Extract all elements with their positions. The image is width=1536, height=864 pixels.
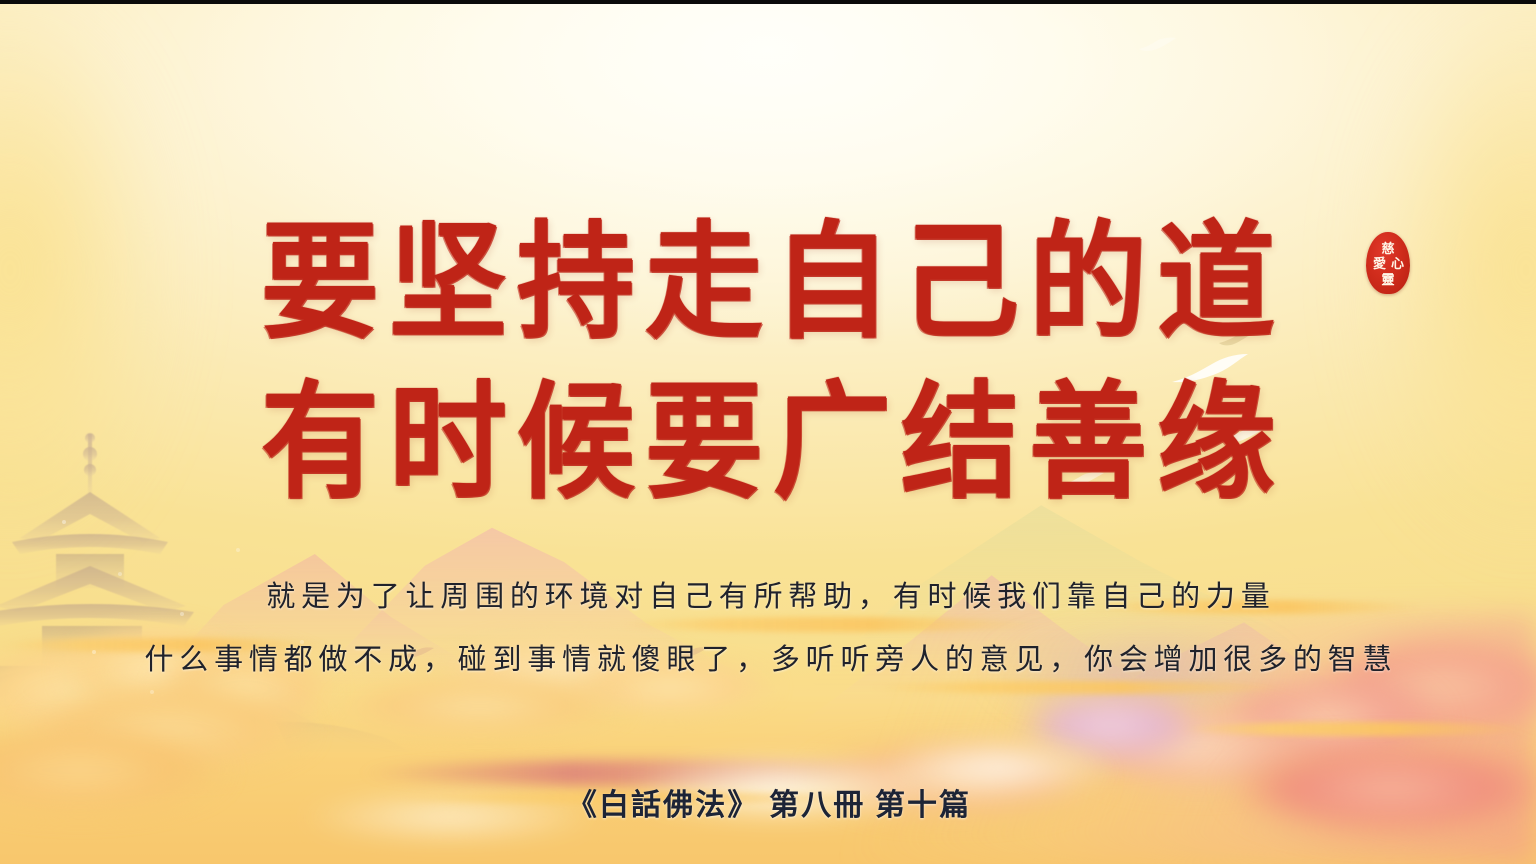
body-line-2: 什么事情都做不成，碰到事情就傻眼了，多听听旁人的意见，你会增加很多的智慧 bbox=[0, 629, 1536, 692]
poster-canvas: 要坚持走自己的道 有时候要广结善缘 慈 愛 心 靈 就是为了让周围的环境对自己有… bbox=[0, 0, 1536, 864]
seal-char-bottom: 靈 bbox=[1381, 273, 1394, 286]
body-block: 就是为了让周围的环境对自己有所帮助，有时候我们靠自己的力量 什么事情都做不成，碰… bbox=[0, 566, 1536, 692]
seal-char-top: 慈 bbox=[1381, 242, 1394, 255]
seal-char-left: 愛 bbox=[1373, 257, 1386, 270]
source-citation: 《白話佛法》 第八冊 第十篇 bbox=[0, 780, 1536, 824]
title-line-1: 要坚持走自己的道 bbox=[0, 198, 1536, 369]
seal-char-right: 心 bbox=[1391, 257, 1404, 270]
seal-stamp: 慈 愛 心 靈 bbox=[1366, 232, 1410, 294]
title-block: 要坚持走自己的道 有时候要广结善缘 bbox=[0, 204, 1536, 524]
top-black-bar bbox=[0, 0, 1536, 4]
title-line-2: 有时候要广结善缘 bbox=[0, 358, 1536, 529]
body-line-1: 就是为了让周围的环境对自己有所帮助，有时候我们靠自己的力量 bbox=[0, 566, 1536, 629]
poster-content: 要坚持走自己的道 有时候要广结善缘 慈 愛 心 靈 就是为了让周围的环境对自己有… bbox=[0, 0, 1536, 864]
seal-characters: 慈 愛 心 靈 bbox=[1366, 232, 1410, 294]
